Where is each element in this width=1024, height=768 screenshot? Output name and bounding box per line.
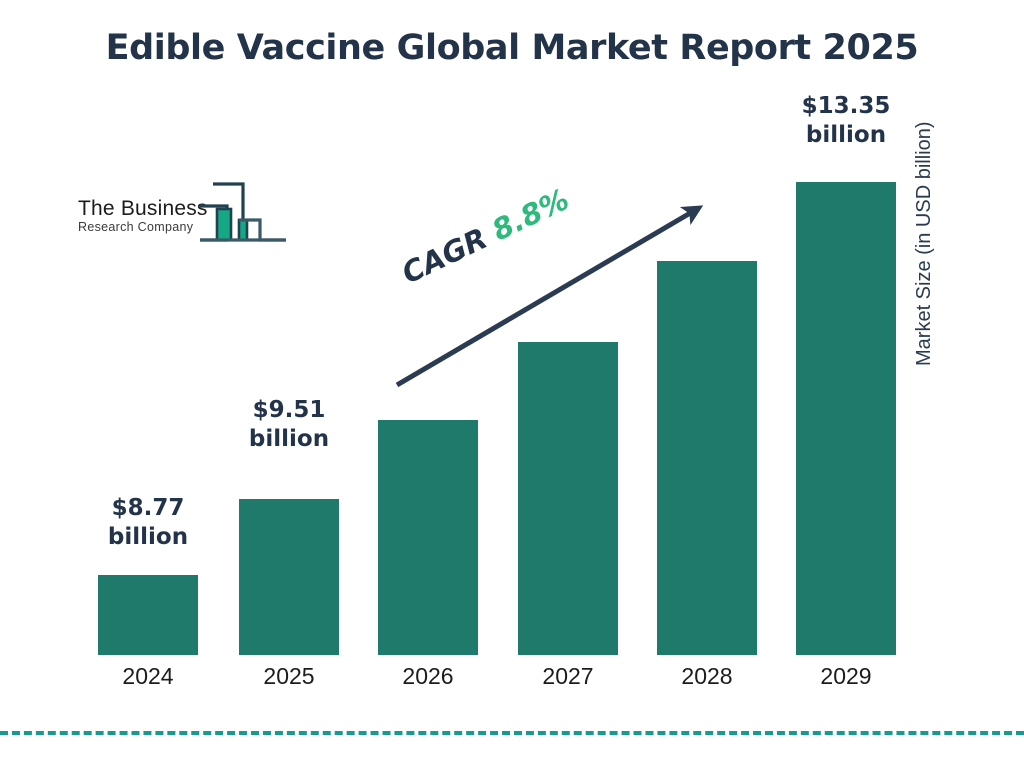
bar-value-2024: $8.77 billion [88, 494, 208, 553]
bar-value-2024-amount: $8.77 [88, 494, 208, 523]
x-tick-2028: 2028 [647, 663, 767, 690]
x-tick-2025: 2025 [229, 663, 349, 690]
footer-divider [0, 731, 1024, 735]
x-tick-2024: 2024 [88, 663, 208, 690]
x-tick-2027: 2027 [508, 663, 628, 690]
bar-chart-plot: $8.77 billion $9.51 billion $13.35 billi… [0, 0, 1024, 768]
chart-page: Edible Vaccine Global Market Report 2025… [0, 0, 1024, 768]
cagr-rate: 8.8% [487, 182, 574, 247]
bar-value-2024-unit: billion [88, 523, 208, 552]
cagr-annotation: CAGR 8.8% [397, 182, 574, 290]
bar-2028 [657, 261, 757, 655]
x-tick-2029: 2029 [786, 663, 906, 690]
bar-value-2029: $13.35 billion [776, 92, 916, 151]
bar-value-2029-amount: $13.35 [776, 92, 916, 121]
y-axis-title: Market Size (in USD billion) [913, 36, 936, 366]
bar-value-2025: $9.51 billion [229, 396, 349, 455]
bar-2026 [378, 420, 478, 655]
bar-2024 [98, 575, 198, 655]
bar-value-2025-amount: $9.51 [229, 396, 349, 425]
bar-value-2025-unit: billion [229, 425, 349, 454]
x-tick-2026: 2026 [368, 663, 488, 690]
cagr-word: CAGR [397, 221, 493, 290]
bar-2029 [796, 182, 896, 655]
bar-value-2029-unit: billion [776, 121, 916, 150]
bar-2027 [518, 342, 618, 655]
bar-2025 [239, 499, 339, 655]
